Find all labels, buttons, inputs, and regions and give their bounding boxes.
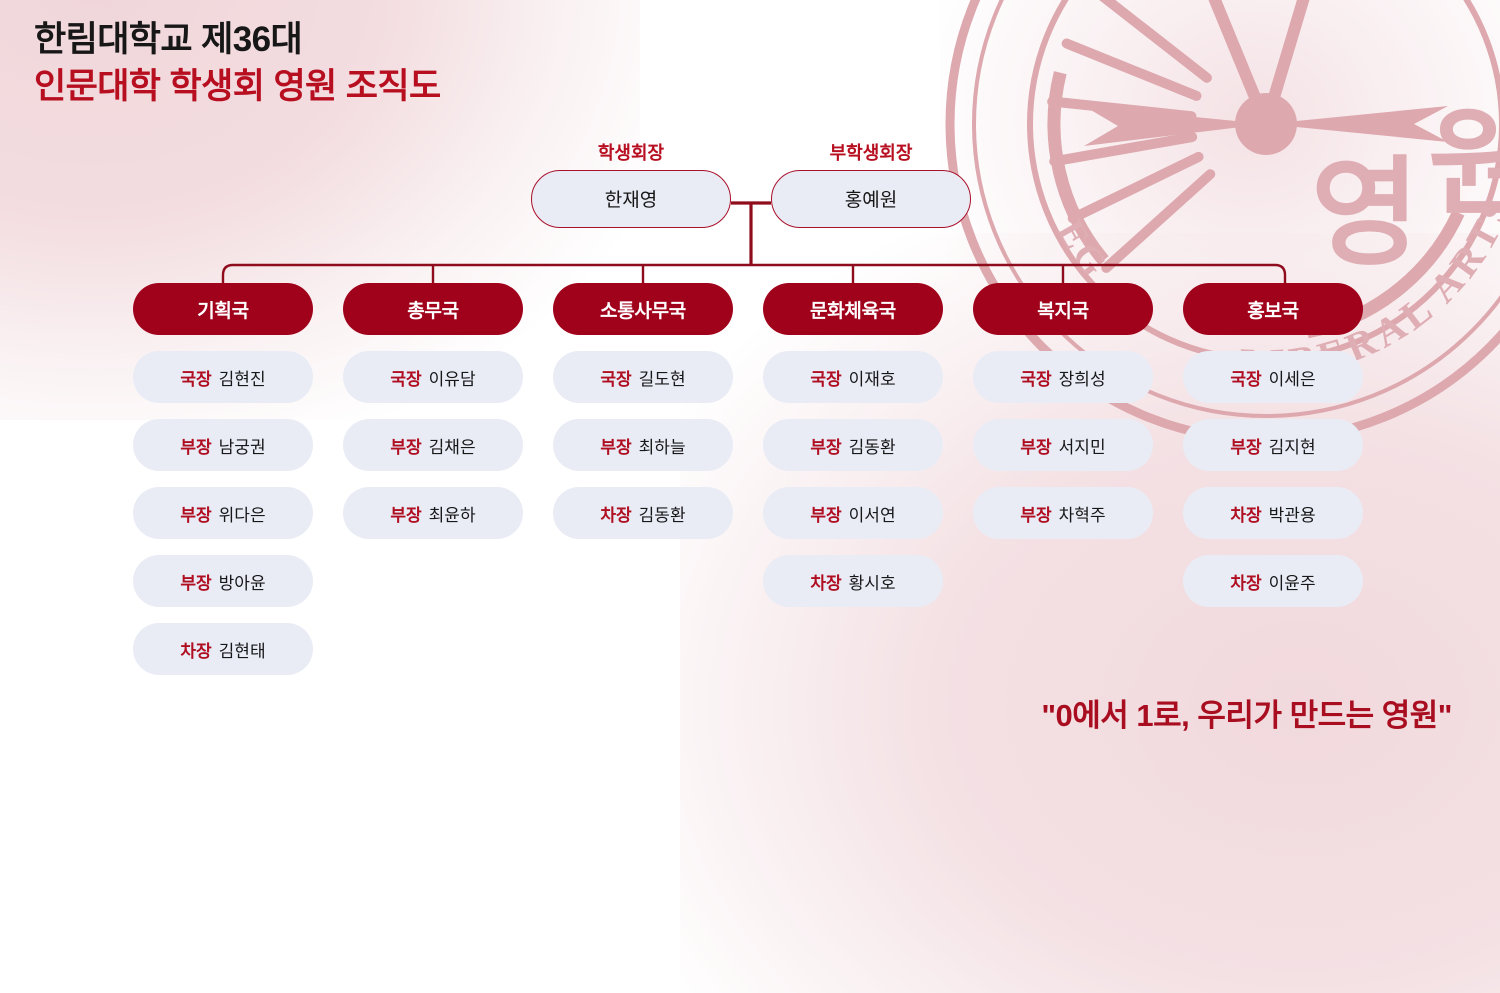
member-name: 최하늘 xyxy=(639,433,686,458)
member-name: 김현태 xyxy=(219,637,266,662)
member-rank: 부장 xyxy=(180,501,211,526)
member-pill[interactable]: 부장남궁권 xyxy=(133,419,313,471)
member-pill[interactable]: 국장길도현 xyxy=(553,351,733,403)
member-rank: 부장 xyxy=(390,433,421,458)
member-pill[interactable]: 차장이윤주 xyxy=(1183,555,1363,607)
department-columns: 기획국국장김현진부장남궁권부장위다은부장방아윤차장김현태총무국국장이유담부장김채… xyxy=(133,283,1413,675)
member-rank: 국장 xyxy=(1020,365,1051,390)
member-pill[interactable]: 차장김동환 xyxy=(553,487,733,539)
member-rank: 차장 xyxy=(1230,569,1261,594)
member-pill[interactable]: 부장위다은 xyxy=(133,487,313,539)
department-column: 문화체육국국장이재호부장김동환부장이서연차장황시호 xyxy=(763,283,943,607)
member-rank: 국장 xyxy=(390,365,421,390)
leader-vice-president-role: 부학생회장 xyxy=(771,144,971,164)
member-rank: 국장 xyxy=(180,365,211,390)
member-name: 장희성 xyxy=(1059,365,1106,390)
member-name: 김지현 xyxy=(1269,433,1316,458)
member-rank: 부장 xyxy=(1020,501,1051,526)
member-pill[interactable]: 국장이세은 xyxy=(1183,351,1363,403)
department-header[interactable]: 문화체육국 xyxy=(763,283,943,335)
page-title: 한림대학교 제36대 인문대학 학생회 영원 조직도 xyxy=(34,17,441,111)
member-rank: 차장 xyxy=(810,569,841,594)
member-name: 위다은 xyxy=(219,501,266,526)
member-pill[interactable]: 국장이재호 xyxy=(763,351,943,403)
member-name: 김채은 xyxy=(429,433,476,458)
slogan-tagline: "0에서 1로, 우리가 만드는 영원" xyxy=(1041,690,1452,735)
member-pill[interactable]: 부장차혁주 xyxy=(973,487,1153,539)
member-name: 황시호 xyxy=(849,569,896,594)
member-rank: 국장 xyxy=(600,365,631,390)
department-header[interactable]: 홍보국 xyxy=(1183,283,1363,335)
member-name: 최윤하 xyxy=(429,501,476,526)
member-name: 이서연 xyxy=(849,501,896,526)
member-pill[interactable]: 부장김채은 xyxy=(343,419,523,471)
member-rank: 부장 xyxy=(1020,433,1051,458)
department-column: 소통사무국국장길도현부장최하늘차장김동환 xyxy=(553,283,733,539)
member-name: 김동환 xyxy=(849,433,896,458)
leader-president-role: 학생회장 xyxy=(531,144,731,164)
member-name: 김동환 xyxy=(639,501,686,526)
department-header[interactable]: 총무국 xyxy=(343,283,523,335)
member-pill[interactable]: 차장박관용 xyxy=(1183,487,1363,539)
member-name: 이세은 xyxy=(1269,365,1316,390)
member-rank: 부장 xyxy=(390,501,421,526)
leader-vice-president[interactable]: 부학생회장 홍예원 xyxy=(771,144,971,228)
member-name: 방아윤 xyxy=(219,569,266,594)
member-rank: 부장 xyxy=(180,433,211,458)
member-pill[interactable]: 부장최하늘 xyxy=(553,419,733,471)
member-pill[interactable]: 국장장희성 xyxy=(973,351,1153,403)
member-rank: 차장 xyxy=(1230,501,1261,526)
member-rank: 부장 xyxy=(600,433,631,458)
member-pill[interactable]: 부장서지민 xyxy=(973,419,1153,471)
department-column: 홍보국국장이세은부장김지현차장박관용차장이윤주 xyxy=(1183,283,1363,607)
department-column: 복지국국장장희성부장서지민부장차혁주 xyxy=(973,283,1153,539)
member-name: 박관용 xyxy=(1269,501,1316,526)
department-column: 기획국국장김현진부장남궁권부장위다은부장방아윤차장김현태 xyxy=(133,283,313,675)
member-pill[interactable]: 차장김현태 xyxy=(133,623,313,675)
title-line-secondary: 인문대학 학생회 영원 조직도 xyxy=(34,64,441,111)
member-pill[interactable]: 부장방아윤 xyxy=(133,555,313,607)
member-name: 차혁주 xyxy=(1059,501,1106,526)
member-rank: 부장 xyxy=(810,501,841,526)
connector-bus xyxy=(223,265,1285,283)
member-pill[interactable]: 차장황시호 xyxy=(763,555,943,607)
leader-president[interactable]: 학생회장 한재영 xyxy=(531,144,731,228)
member-name: 이윤주 xyxy=(1269,569,1316,594)
member-rank: 국장 xyxy=(1230,365,1261,390)
leader-vice-president-name: 홍예원 xyxy=(771,170,971,228)
member-pill[interactable]: 국장김현진 xyxy=(133,351,313,403)
member-name: 서지민 xyxy=(1059,433,1106,458)
member-pill[interactable]: 부장이서연 xyxy=(763,487,943,539)
member-name: 이재호 xyxy=(849,365,896,390)
member-rank: 부장 xyxy=(810,433,841,458)
member-rank: 국장 xyxy=(810,365,841,390)
member-name: 이유담 xyxy=(429,365,476,390)
member-name: 길도현 xyxy=(639,365,686,390)
department-header[interactable]: 기획국 xyxy=(133,283,313,335)
member-rank: 부장 xyxy=(180,569,211,594)
member-name: 김현진 xyxy=(219,365,266,390)
department-header[interactable]: 복지국 xyxy=(973,283,1153,335)
member-rank: 차장 xyxy=(180,637,211,662)
member-rank: 부장 xyxy=(1230,433,1261,458)
member-rank: 차장 xyxy=(600,501,631,526)
member-pill[interactable]: 국장이유담 xyxy=(343,351,523,403)
member-pill[interactable]: 부장김동환 xyxy=(763,419,943,471)
member-pill[interactable]: 부장최윤하 xyxy=(343,487,523,539)
member-pill[interactable]: 부장김지현 xyxy=(1183,419,1363,471)
title-line-primary: 한림대학교 제36대 xyxy=(34,17,441,64)
member-name: 남궁권 xyxy=(219,433,266,458)
department-column: 총무국국장이유담부장김채은부장최윤하 xyxy=(343,283,523,539)
department-header[interactable]: 소통사무국 xyxy=(553,283,733,335)
leader-president-name: 한재영 xyxy=(531,170,731,228)
